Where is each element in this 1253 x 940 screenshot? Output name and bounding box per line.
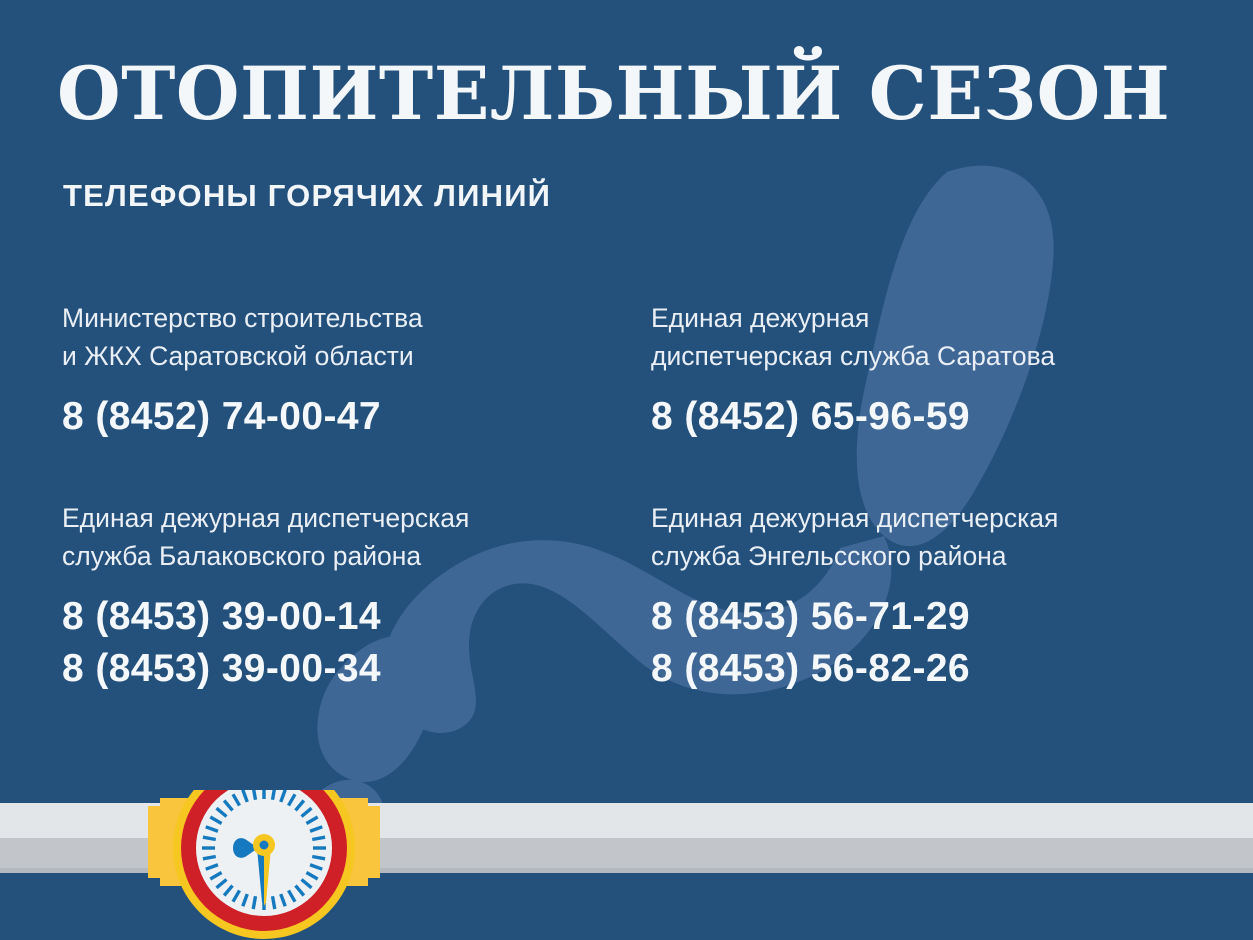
phone-number[interactable]: 8 (8453) 56-71-29 xyxy=(651,591,1058,643)
organization-line: служба Энгельсского района xyxy=(651,538,1058,576)
heating-pipe-graphic xyxy=(0,790,1253,940)
organization-name: Министерство строительства и ЖКХ Саратов… xyxy=(62,300,423,375)
phone-number[interactable]: 8 (8453) 39-00-34 xyxy=(62,643,469,695)
phone-list: 8 (8453) 39-00-14 8 (8453) 39-00-34 xyxy=(62,591,469,695)
contact-block: Министерство строительства и ЖКХ Саратов… xyxy=(62,300,423,443)
organization-name: Единая дежурная диспетчерская служба Сар… xyxy=(651,300,1055,375)
organization-line: служба Балаковского района xyxy=(62,538,469,576)
organization-line: Единая дежурная диспетчерская xyxy=(651,500,1058,538)
phone-list: 8 (8453) 56-71-29 8 (8453) 56-82-26 xyxy=(651,591,1058,695)
pressure-gauge xyxy=(173,790,355,939)
phone-list: 8 (8452) 74-00-47 xyxy=(62,391,423,443)
contact-block: Единая дежурная диспетчерская служба Энг… xyxy=(651,500,1058,695)
organization-line: Единая дежурная диспетчерская xyxy=(62,500,469,538)
page-title: ОТОПИТЕЛЬНЫЙ СЕЗОН xyxy=(57,58,1170,131)
phone-number[interactable]: 8 (8453) 56-82-26 xyxy=(651,643,1058,695)
contact-block: Единая дежурная диспетчерская служба Сар… xyxy=(651,300,1055,443)
organization-line: диспетчерская служба Саратова xyxy=(651,338,1055,376)
organization-name: Единая дежурная диспетчерская служба Бал… xyxy=(62,500,469,575)
phone-number[interactable]: 8 (8452) 65-96-59 xyxy=(651,391,1055,443)
phone-number[interactable]: 8 (8453) 39-00-14 xyxy=(62,591,469,643)
organization-line: Министерство строительства xyxy=(62,300,423,338)
organization-line: Единая дежурная xyxy=(651,300,1055,338)
phone-list: 8 (8452) 65-96-59 xyxy=(651,391,1055,443)
organization-line: и ЖКХ Саратовской области xyxy=(62,338,423,376)
organization-name: Единая дежурная диспетчерская служба Энг… xyxy=(651,500,1058,575)
gauge-hub-center xyxy=(260,841,269,850)
phone-number[interactable]: 8 (8452) 74-00-47 xyxy=(62,391,423,443)
contact-block: Единая дежурная диспетчерская служба Бал… xyxy=(62,500,469,695)
page-subtitle: ТЕЛЕФОНЫ ГОРЯЧИХ ЛИНИЙ xyxy=(63,180,551,211)
poster-canvas: ОТОПИТЕЛЬНЫЙ СЕЗОН ТЕЛЕФОНЫ ГОРЯЧИХ ЛИНИ… xyxy=(0,0,1253,940)
